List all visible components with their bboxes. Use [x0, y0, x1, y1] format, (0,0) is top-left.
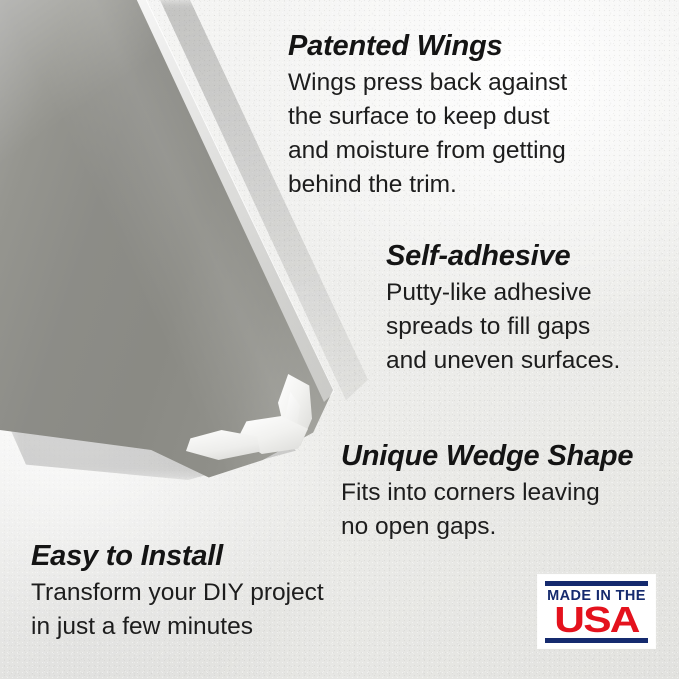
feature-body-line: spreads to fill gaps	[386, 310, 676, 344]
feature-block-unique-wedge-shape: Unique Wedge Shape Fits into corners lea…	[341, 438, 677, 544]
feature-body-line: Wings press back against	[288, 66, 668, 100]
feature-body-line: Fits into corners leaving	[341, 476, 677, 510]
feature-heading: Patented Wings	[288, 28, 668, 64]
feature-body: Fits into corners leaving no open gaps.	[341, 476, 677, 544]
feature-block-easy-to-install: Easy to Install Transform your DIY proje…	[31, 538, 361, 644]
feature-block-patented-wings: Patented Wings Wings press back against …	[288, 28, 668, 202]
feature-body-line: no open gaps.	[341, 510, 677, 544]
feature-body-line: and uneven surfaces.	[386, 344, 676, 378]
feature-body-line: behind the trim.	[288, 168, 668, 202]
made-in-usa-badge: MADE IN THE USA	[538, 575, 655, 648]
feature-body-line: the surface to keep dust	[288, 100, 668, 134]
feature-body-line: and moisture from getting	[288, 134, 668, 168]
feature-heading: Easy to Install	[31, 538, 361, 574]
feature-block-self-adhesive: Self-adhesive Putty-like adhesive spread…	[386, 238, 676, 378]
badge-line-usa: USA	[536, 603, 658, 636]
feature-body: Putty-like adhesive spreads to fill gaps…	[386, 276, 676, 378]
feature-body-line: in just a few minutes	[31, 610, 361, 644]
product-feature-infographic: Patented Wings Wings press back against …	[0, 0, 679, 679]
feature-body-line: Putty-like adhesive	[386, 276, 676, 310]
feature-heading: Unique Wedge Shape	[341, 438, 677, 474]
feature-body: Wings press back against the surface to …	[288, 66, 668, 202]
feature-heading: Self-adhesive	[386, 238, 676, 274]
feature-body: Transform your DIY project in just a few…	[31, 576, 361, 644]
badge-top-bar	[545, 581, 648, 586]
feature-body-line: Transform your DIY project	[31, 576, 361, 610]
